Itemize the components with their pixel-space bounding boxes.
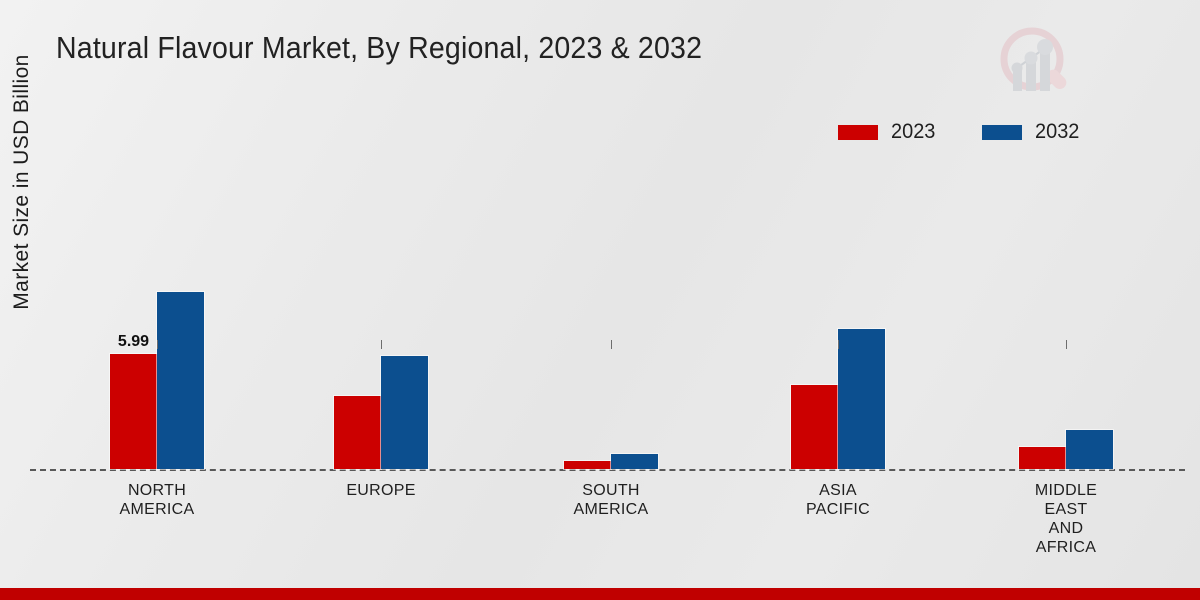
bar-group-asia-pacific bbox=[791, 209, 885, 469]
axis-tick-europe bbox=[381, 340, 382, 349]
category-label-line: PACIFIC bbox=[743, 500, 933, 519]
bar-europe-2023[interactable] bbox=[334, 396, 381, 469]
category-label-line: EUROPE bbox=[286, 481, 476, 500]
axis-tick-north-america bbox=[157, 340, 158, 349]
bar-europe-2032[interactable] bbox=[381, 356, 428, 469]
bar-middle-east-and-africa-2023[interactable] bbox=[1019, 447, 1066, 469]
axis-tick-south-america bbox=[611, 340, 612, 349]
bar-value-north-america-2023: 5.99 bbox=[118, 333, 149, 351]
bar-group-north-america: 5.99 bbox=[110, 209, 204, 469]
category-label-line: SOUTH bbox=[516, 481, 706, 500]
category-label-middle-east-and-africa: MIDDLE EAST AND AFRICA bbox=[971, 481, 1161, 557]
chart-container: Natural Flavour Market, By Regional, 202… bbox=[0, 0, 1200, 600]
bottom-accent-band bbox=[0, 588, 1200, 600]
bar-north-america-2032[interactable] bbox=[157, 292, 204, 469]
category-label-line: AFRICA bbox=[971, 538, 1161, 557]
axis-tick-middle-east-and-africa bbox=[1066, 340, 1067, 349]
category-label-line: AMERICA bbox=[62, 500, 252, 519]
category-label-line: MIDDLE bbox=[971, 481, 1161, 500]
category-label-line: AND bbox=[971, 519, 1161, 538]
bar-south-america-2023[interactable] bbox=[564, 461, 611, 469]
bar-group-europe bbox=[334, 209, 428, 469]
bar-asia-pacific-2023[interactable] bbox=[791, 385, 838, 469]
bar-middle-east-and-africa-2032[interactable] bbox=[1066, 430, 1113, 469]
category-label-line: AMERICA bbox=[516, 500, 706, 519]
bar-group-middle-east-and-africa bbox=[1019, 209, 1113, 469]
axis-tick-asia-pacific bbox=[838, 340, 839, 349]
bar-group-south-america bbox=[564, 209, 658, 469]
plot-area: 5.99 NORTH AMERICA EUROPE SOUTH AMERICA bbox=[0, 0, 1200, 600]
axis-baseline bbox=[30, 469, 1185, 471]
category-label-europe: EUROPE bbox=[286, 481, 476, 500]
category-label-north-america: NORTH AMERICA bbox=[62, 481, 252, 519]
category-label-asia-pacific: ASIA PACIFIC bbox=[743, 481, 933, 519]
category-label-south-america: SOUTH AMERICA bbox=[516, 481, 706, 519]
category-label-line: NORTH bbox=[62, 481, 252, 500]
category-label-line: ASIA bbox=[743, 481, 933, 500]
bar-asia-pacific-2032[interactable] bbox=[838, 329, 885, 469]
category-label-line: EAST bbox=[971, 500, 1161, 519]
bar-north-america-2023[interactable]: 5.99 bbox=[110, 354, 157, 469]
bar-south-america-2032[interactable] bbox=[611, 454, 658, 469]
